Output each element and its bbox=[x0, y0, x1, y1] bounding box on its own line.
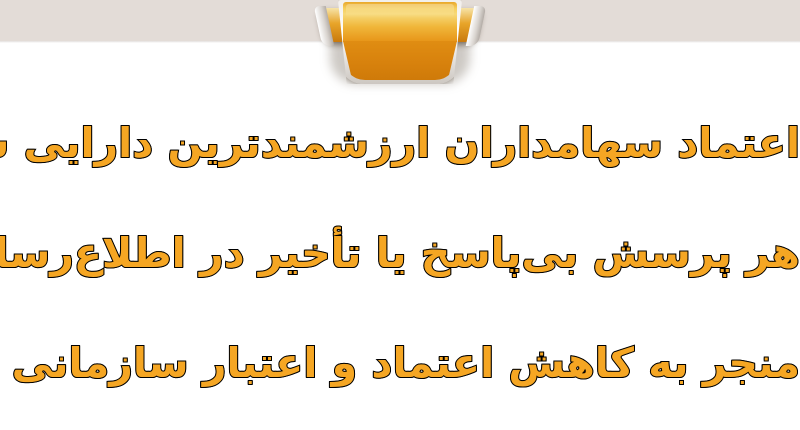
ribbon-gloss-highlight bbox=[346, 4, 454, 18]
ribbon-tab-graphic bbox=[316, 0, 484, 90]
headline-line-3: منجر به کاهش اعتماد و اعتبار سازمانی شود bbox=[0, 308, 800, 418]
slide-canvas: اعتماد سهامداران ارزشمندترین دارایی شرکت… bbox=[0, 0, 800, 430]
headline-line-2: هر پرسش بی‌پاسخ یا تأخیر در اطلاع‌رسانی … bbox=[0, 198, 800, 308]
headline-line-1: اعتماد سهامداران ارزشمندترین دارایی شرکت… bbox=[0, 88, 800, 198]
headline-text-block: اعتماد سهامداران ارزشمندترین دارایی شرکت… bbox=[0, 88, 800, 418]
ribbon-lower-flap bbox=[343, 41, 457, 80]
